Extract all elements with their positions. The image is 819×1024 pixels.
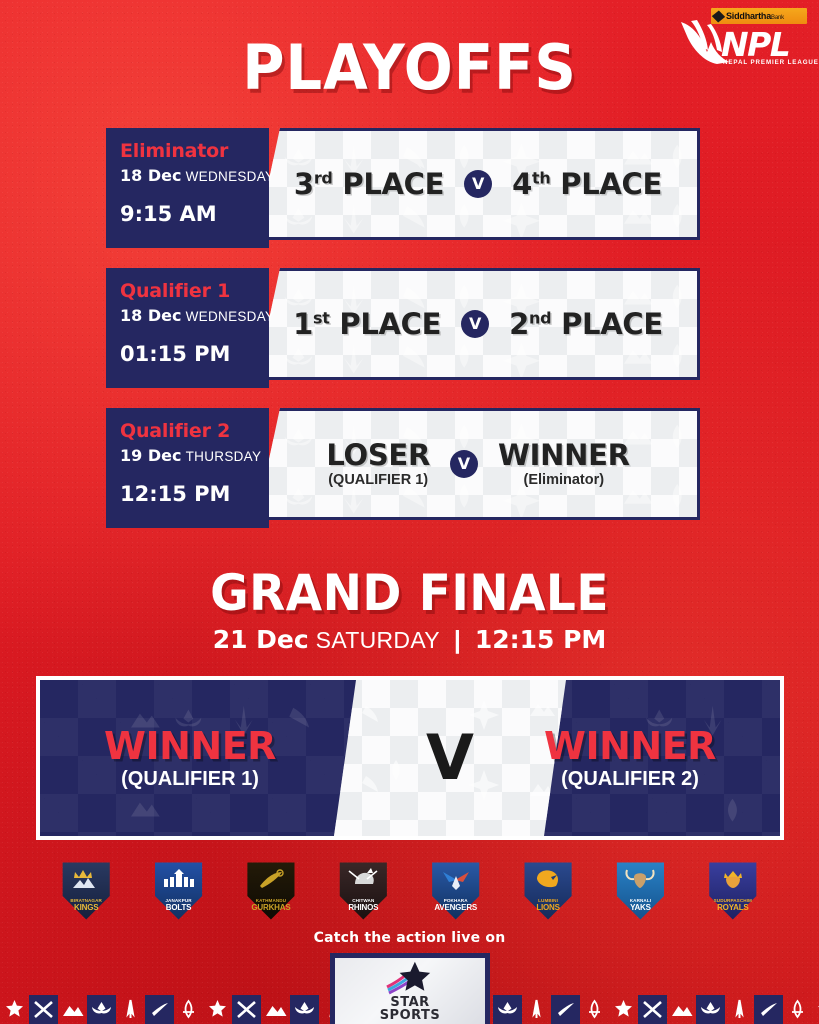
home-team-sublabel: (QUALIFIER 1) <box>326 473 430 488</box>
away-rank-word: PLACE <box>550 167 662 201</box>
grand-finale-matchup-box: WINNER (QUALIFIER 1) V <box>36 676 784 840</box>
bottom-strip-tile <box>754 995 783 1024</box>
match-date: 19 Dec THURSDAY <box>120 448 269 464</box>
finale-separator: | <box>454 626 461 654</box>
bottom-strip-tile <box>580 995 609 1024</box>
decorative-sport-icon <box>638 995 667 1024</box>
decorative-sport-icon <box>174 995 203 1024</box>
match-label-panel: Qualifier 1 18 Dec WEDNESDAY 01:15 PM <box>106 268 269 388</box>
decorative-sport-icon <box>232 995 261 1024</box>
decorative-sport-icon <box>493 995 522 1024</box>
grand-finale-datetime: 21 Dec SATURDAY | 12:15 PM <box>0 627 819 653</box>
team-name: BIRATNAGAR KINGS <box>55 899 117 912</box>
playoffs-poster: SiddharthaBank NPL NEPAL PREMIER LEAGUE … <box>0 0 819 1024</box>
match-teams-panel: LOSER (QUALIFIER 1) V WINNER (Eliminator… <box>256 408 700 520</box>
team-nickname: RHINOS <box>348 903 378 912</box>
team-name: SUDURPASCHIM ROYALS <box>702 899 764 912</box>
lion-head-icon <box>531 868 565 890</box>
bottom-strip-tile <box>812 995 819 1024</box>
temple-icon <box>161 869 197 889</box>
decorative-sport-icon <box>696 995 725 1024</box>
versus-badge: V <box>464 170 492 198</box>
home-rank-number: 3 <box>294 167 314 201</box>
decorative-sport-icon <box>58 995 87 1024</box>
finale-date-value: 21 Dec <box>213 625 309 654</box>
match-label-panel: Qualifier 2 19 Dec THURSDAY 12:15 PM <box>106 408 269 528</box>
decorative-sport-icon <box>783 995 812 1024</box>
star-sports-logo: STAR SPORTS <box>330 953 490 1024</box>
bottom-strip-tile <box>0 995 29 1024</box>
decorative-sport-icon <box>145 995 174 1024</box>
finale-right-qualifier: (QUALIFIER 2) <box>561 769 699 789</box>
bottom-strip-tile <box>58 995 87 1024</box>
away-rank-number: 2 <box>509 307 529 341</box>
team-logo-kings: BIRATNAGAR KINGS <box>55 860 117 922</box>
decorative-sport-icon <box>116 995 145 1024</box>
home-team: 1st PLACE <box>293 310 441 339</box>
match-time: 01:15 PM <box>120 344 269 365</box>
versus-badge: V <box>461 310 489 338</box>
match-day: WEDNESDAY <box>186 309 275 324</box>
away-team: WINNER (Eliminator) <box>498 441 630 488</box>
home-team-label: LOSER <box>326 441 430 470</box>
team-name: KARNALI YAKS <box>609 899 671 912</box>
decorative-sport-icon <box>0 995 29 1024</box>
home-rank-word: PLACE <box>333 167 445 201</box>
decorative-sport-icon <box>87 995 116 1024</box>
team-nickname: KINGS <box>74 903 98 912</box>
away-team-label: WINNER <box>498 441 630 470</box>
team-nickname: GURKHAS <box>251 903 290 912</box>
decorative-sport-icon <box>551 995 580 1024</box>
yak-head-icon <box>623 868 657 890</box>
team-logo-rhinos: CHITWAN RHINOS <box>332 860 394 922</box>
decorative-sport-icon <box>522 995 551 1024</box>
bottom-strip-tile <box>638 995 667 1024</box>
team-name: JANAKPUR BOLTS <box>148 899 210 912</box>
star-word: STAR <box>380 996 441 1009</box>
decorative-sport-icon <box>203 995 232 1024</box>
star-sports-wordmark: STAR SPORTS <box>380 996 441 1022</box>
team-name: LUMBINI LIONS <box>517 899 579 912</box>
match-time: 12:15 PM <box>120 484 269 505</box>
decorative-sport-icon <box>725 995 754 1024</box>
away-rank-number: 4 <box>512 167 532 201</box>
bottom-strip-tile <box>290 995 319 1024</box>
page-title: PLAYOFFS <box>29 37 791 99</box>
match-date-value: 18 Dec <box>120 306 181 325</box>
team-nickname: BOLTS <box>166 903 192 912</box>
match-day: THURSDAY <box>186 449 262 464</box>
finale-left-qualifier: (QUALIFIER 1) <box>121 769 259 789</box>
bottom-strip-tile <box>145 995 174 1024</box>
matchup: 1st PLACE V 2nd PLACE <box>259 271 697 377</box>
away-rank-word: PLACE <box>551 307 663 341</box>
decorative-sport-icon <box>29 995 58 1024</box>
bottom-strip-tile <box>609 995 638 1024</box>
match-time: 9:15 AM <box>120 204 269 225</box>
bottom-strip-tile <box>203 995 232 1024</box>
team-logo-yaks: KARNALI YAKS <box>609 860 671 922</box>
decorative-sport-icon <box>261 995 290 1024</box>
match-day: WEDNESDAY <box>186 169 275 184</box>
team-name: KATHMANDU GURKHAS <box>240 899 302 912</box>
team-logo-avengers: POKHARA AVENGERS <box>425 860 487 922</box>
match-stage: Eliminator <box>120 142 269 161</box>
grand-finale-title: GRAND FINALE <box>25 568 795 618</box>
star-icon <box>379 961 441 995</box>
crown-mountain-icon <box>69 868 103 890</box>
tiger-crown-icon <box>716 868 750 890</box>
khukuri-batsman-icon <box>254 868 288 890</box>
finale-right-label: WINNER <box>544 727 716 765</box>
team-logo-bolts: JANAKPUR BOLTS <box>148 860 210 922</box>
finale-time: 12:15 PM <box>475 625 606 654</box>
away-rank-suffix: th <box>532 168 550 187</box>
away-team: 4th PLACE <box>512 170 662 199</box>
match-teams-panel: 3rd PLACE V 4th PLACE <box>256 128 700 240</box>
home-rank-suffix: rd <box>314 168 333 187</box>
home-team: 3rd PLACE <box>294 170 444 199</box>
finale-left-team: WINNER (QUALIFIER 1) <box>40 680 340 836</box>
decorative-sport-icon <box>667 995 696 1024</box>
bottom-strip-tile <box>783 995 812 1024</box>
match-stage: Qualifier 2 <box>120 422 269 441</box>
match-stage: Qualifier 1 <box>120 282 269 301</box>
decorative-sport-icon <box>812 995 819 1024</box>
away-team-sublabel: (Eliminator) <box>498 473 630 488</box>
team-nickname: ROYALS <box>717 903 748 912</box>
sports-word: SPORTS <box>380 1009 441 1022</box>
match-label-panel: Eliminator 18 Dec WEDNESDAY 9:15 AM <box>106 128 269 248</box>
finale-day: SATURDAY <box>316 627 440 653</box>
bottom-strip-tile <box>29 995 58 1024</box>
decorative-sport-icon <box>609 995 638 1024</box>
match-date: 18 Dec WEDNESDAY <box>120 168 269 184</box>
team-name: POKHARA AVENGERS <box>425 899 487 912</box>
bottom-strip-tile <box>232 995 261 1024</box>
bottom-strip-tile <box>87 995 116 1024</box>
match-date-value: 18 Dec <box>120 166 181 185</box>
eagle-icon <box>439 868 473 890</box>
bottom-strip-tile <box>725 995 754 1024</box>
match-date: 18 Dec WEDNESDAY <box>120 308 269 324</box>
decorative-sport-icon <box>290 995 319 1024</box>
team-name: CHITWAN RHINOS <box>332 899 394 912</box>
rhino-head-icon <box>345 868 381 890</box>
away-team: 2nd PLACE <box>509 310 663 339</box>
bottom-strip-tile <box>493 995 522 1024</box>
bottom-strip-tile <box>551 995 580 1024</box>
team-nickname: LIONS <box>536 903 559 912</box>
decorative-sport-icon <box>754 995 783 1024</box>
home-rank-suffix: st <box>313 308 330 327</box>
matchup: 3rd PLACE V 4th PLACE <box>259 131 697 237</box>
home-rank-word: PLACE <box>330 307 442 341</box>
finale-left-label: WINNER <box>104 727 276 765</box>
finale-right-team: WINNER (QUALIFIER 2) <box>480 680 780 836</box>
team-nickname: YAKS <box>630 903 651 912</box>
decorative-sport-icon <box>580 995 609 1024</box>
match-teams-panel: 1st PLACE V 2nd PLACE <box>256 268 700 380</box>
match-date-value: 19 Dec <box>120 446 181 465</box>
away-rank-suffix: nd <box>529 308 551 327</box>
bottom-strip-tile <box>522 995 551 1024</box>
bottom-strip-tile <box>174 995 203 1024</box>
bottom-strip-tile <box>667 995 696 1024</box>
team-logo-gurkhas: KATHMANDU GURKHAS <box>240 860 302 922</box>
team-logo-strip: BIRATNAGAR KINGS JANAKPUR BOLTS <box>0 856 819 926</box>
bottom-strip-tile <box>116 995 145 1024</box>
matchup: LOSER (QUALIFIER 1) V WINNER (Eliminator… <box>259 411 697 517</box>
bottom-strip-tile <box>261 995 290 1024</box>
team-logo-royals: SUDURPASCHIM ROYALS <box>702 860 764 922</box>
versus-badge: V <box>450 450 478 478</box>
home-team: LOSER (QUALIFIER 1) <box>326 441 430 488</box>
team-nickname: AVENGERS <box>434 903 477 912</box>
bottom-strip-tile <box>696 995 725 1024</box>
team-logo-lions: LUMBINI LIONS <box>517 860 579 922</box>
broadcast-headline: Catch the action live on <box>0 930 819 946</box>
home-rank-number: 1 <box>293 307 313 341</box>
